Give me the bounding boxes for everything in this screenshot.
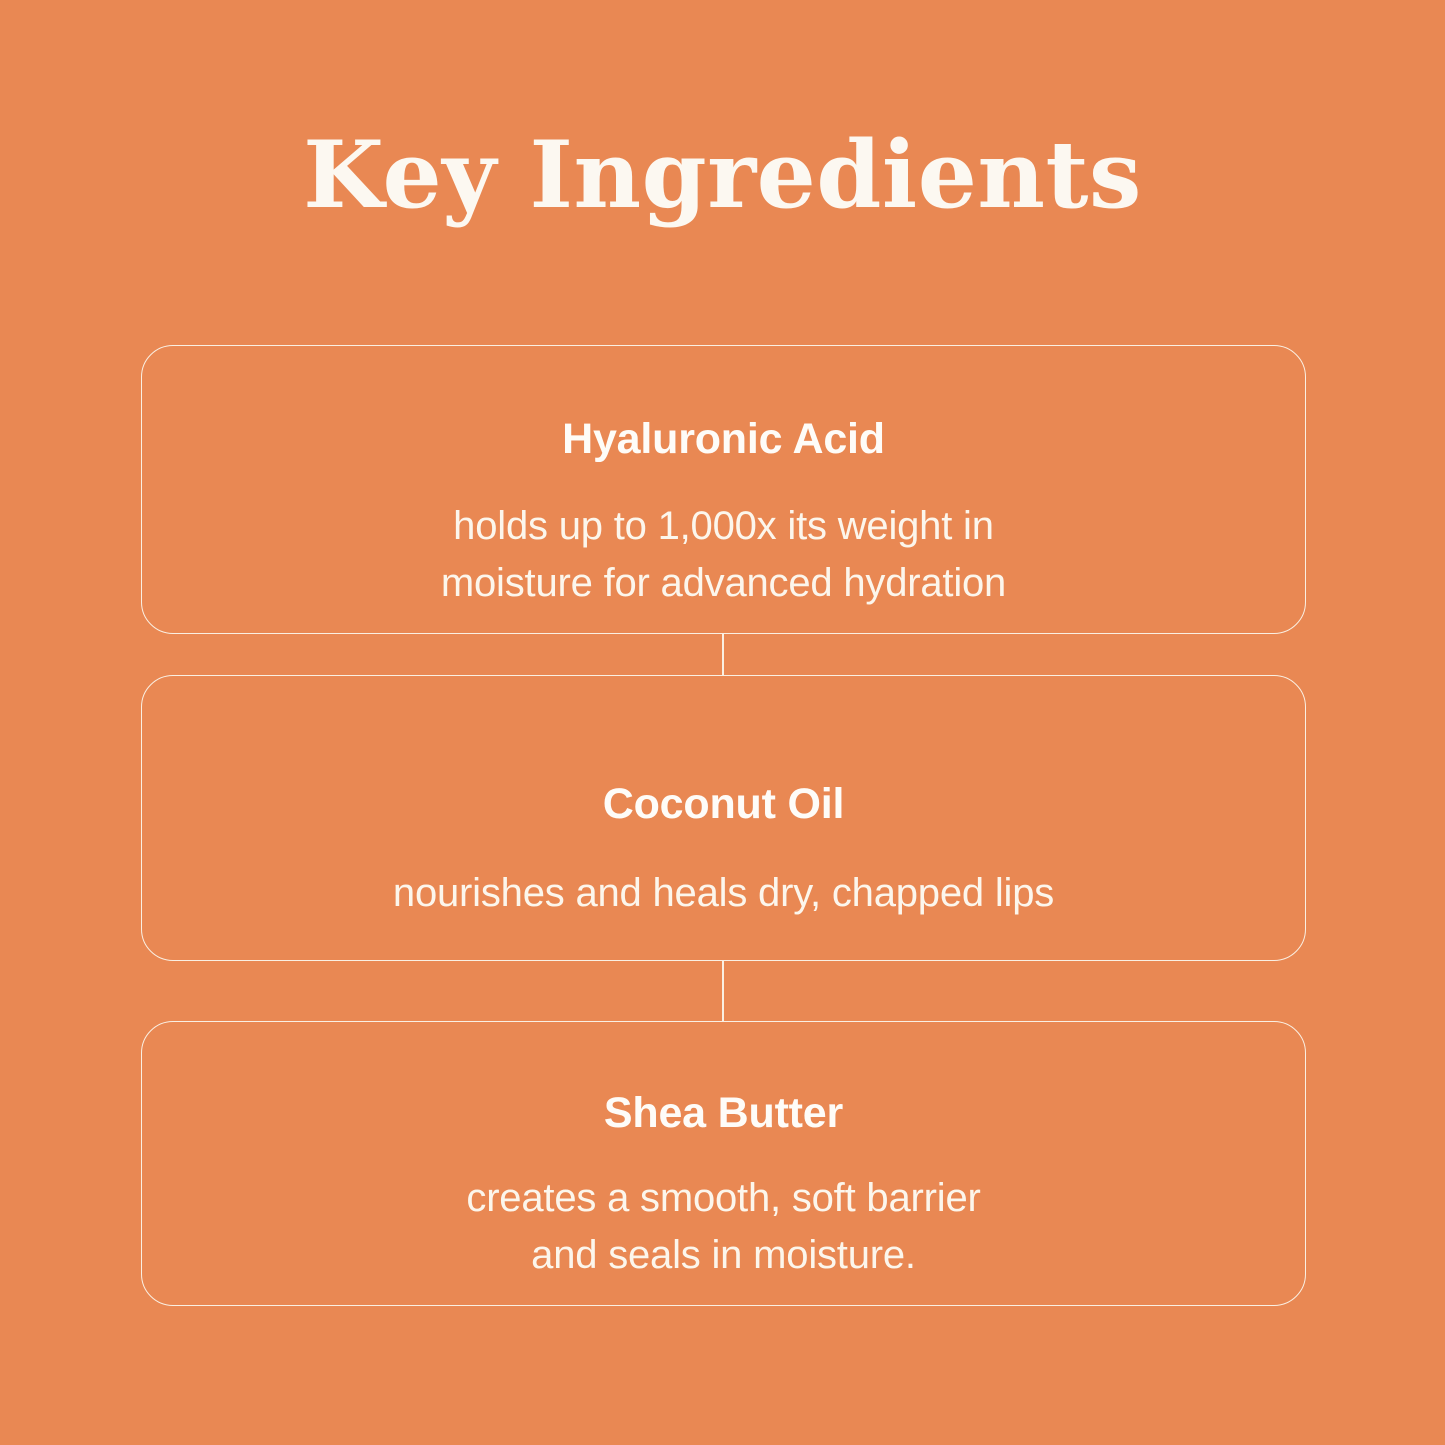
key-ingredients-infographic: Key Ingredients Hyaluronic Acid holds up… (0, 0, 1445, 1445)
connector-line-1 (722, 634, 724, 675)
ingredient-description: nourishes and heals dry, chapped lips (393, 865, 1054, 922)
ingredient-card-hyaluronic-acid[interactable]: Hyaluronic Acid holds up to 1,000x its w… (141, 345, 1306, 634)
connector-line-2 (722, 961, 724, 1021)
ingredient-flow-diagram: Hyaluronic Acid holds up to 1,000x its w… (141, 345, 1306, 1306)
ingredient-description: holds up to 1,000x its weight in moistur… (441, 498, 1006, 612)
ingredient-name: Shea Butter (604, 1089, 843, 1138)
ingredient-card-shea-butter[interactable]: Shea Butter creates a smooth, soft barri… (141, 1021, 1306, 1306)
ingredient-description: creates a smooth, soft barrier and seals… (466, 1170, 980, 1284)
ingredient-name: Hyaluronic Acid (562, 415, 885, 464)
page-title: Key Ingredients (0, 124, 1445, 226)
ingredient-card-coconut-oil[interactable]: Coconut Oil nourishes and heals dry, cha… (141, 675, 1306, 961)
ingredient-name: Coconut Oil (603, 780, 844, 829)
